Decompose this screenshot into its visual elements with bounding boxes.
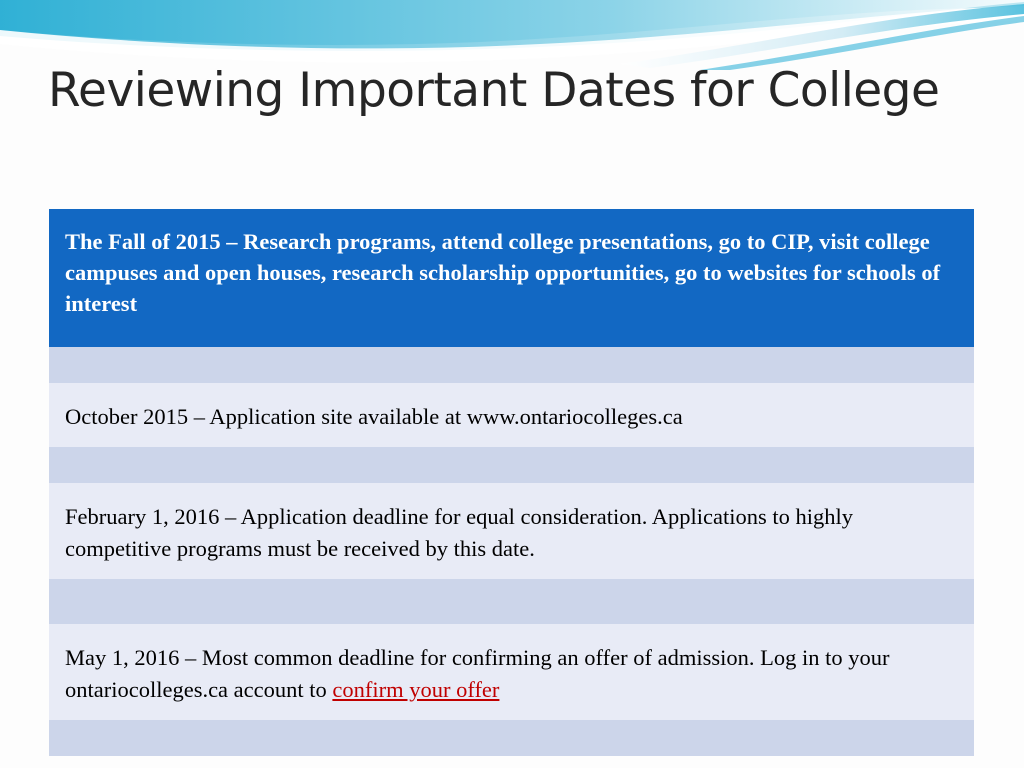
table-row-header: The Fall of 2015 – Research programs, at… bbox=[49, 209, 974, 347]
dates-table: The Fall of 2015 – Research programs, at… bbox=[49, 209, 974, 756]
table-band-divider-4 bbox=[49, 720, 974, 756]
table-row: February 1, 2016 – Application deadline … bbox=[49, 483, 974, 579]
table-band-divider-3 bbox=[49, 579, 974, 624]
table-band-divider-1 bbox=[49, 347, 974, 383]
table-row: May 1, 2016 – Most common deadline for c… bbox=[49, 624, 974, 720]
confirm-offer-link[interactable]: confirm your offer bbox=[332, 677, 499, 702]
table-band-divider-2 bbox=[49, 447, 974, 483]
page-title: Reviewing Important Dates for College bbox=[48, 58, 948, 125]
table-row: October 2015 – Application site availabl… bbox=[49, 383, 974, 447]
slide: Reviewing Important Dates for College Th… bbox=[0, 0, 1024, 768]
